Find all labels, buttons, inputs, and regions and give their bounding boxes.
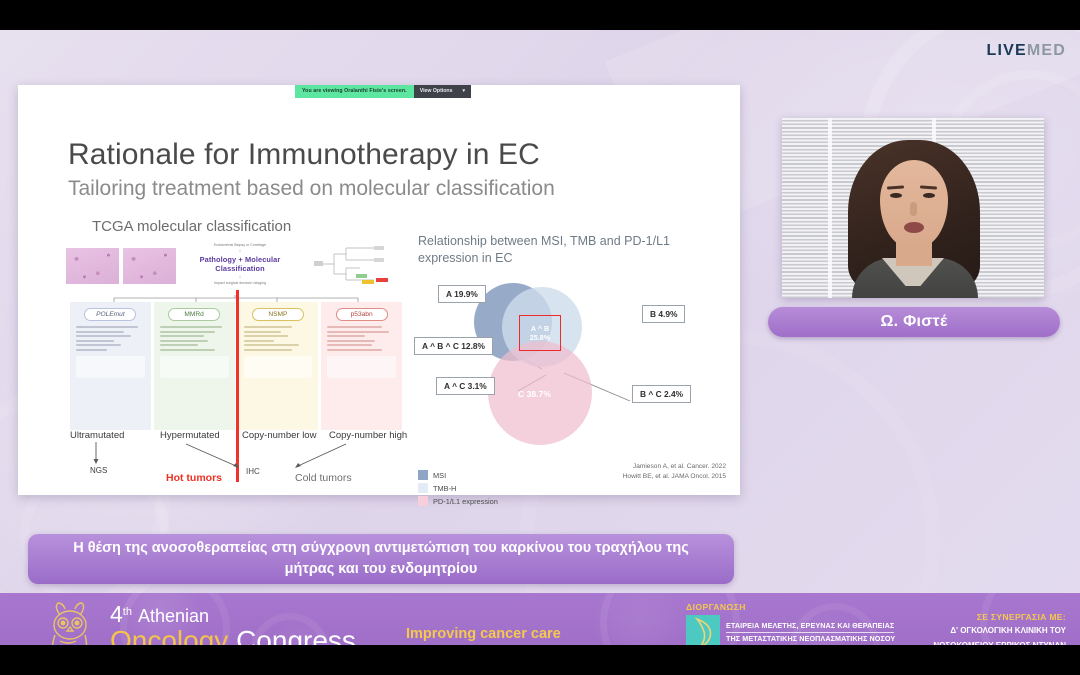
tagline-line-1: Improving cancer care <box>406 625 628 644</box>
congress-ordinal-number: 4 <box>110 601 123 627</box>
venn-label-a: A 19.9% <box>438 285 486 303</box>
speaker-name-badge: Ω. Φιστέ <box>768 307 1060 337</box>
legend-swatch-msi <box>418 470 428 480</box>
slide-subtitle: Tailoring treatment based on molecular c… <box>68 177 555 201</box>
venn-value-ab: 25.8% <box>530 333 550 342</box>
tcga-subtype-detail <box>238 326 319 351</box>
tcga-subtype-nsmp: NSMP <box>238 302 319 430</box>
webinar-player: LIVEMED You are viewing Οralanthi Fiste'… <box>0 0 1080 675</box>
tcga-subtype-label: MMRd <box>168 308 220 321</box>
congress-athenian: Athenian <box>138 606 209 626</box>
eye <box>923 193 935 198</box>
venn-heading: Relationship between MSI, TMB and PD-1/L… <box>418 233 718 267</box>
tcga-subtype-polemut: POLEmut <box>70 302 151 430</box>
tcga-label-cold-tumors: Cold tumors <box>295 472 352 484</box>
organizer-name-line-1: ΕΤΑΙΡΕΙΑ ΜΕΛΕΤΗΣ, ΕΡΕΥΝΑΣ ΚΑΙ ΘΕΡΑΠΕΙΑΣ <box>726 620 894 633</box>
venn-label-b: B 4.9% <box>642 305 685 323</box>
tcga-subtype-summary <box>244 356 313 378</box>
tcga-label-ihc: IHC <box>246 467 260 476</box>
congress-ordinal-suffix: th <box>123 606 132 618</box>
tcga-subtype-summary <box>76 356 145 378</box>
organizer-name-line-2: ΤΗΣ ΜΕΤΑΣΤΑΤΙΚΗΣ ΝΕΟΠΛΑΣΜΑΤΙΚΗΣ ΝΟΣΟΥ <box>726 633 895 644</box>
session-title-banner: Η θέση της ανοσοθεραπείας στη σύγχρονη α… <box>28 534 734 584</box>
view-options-label: View Options <box>420 85 453 98</box>
tcga-subtype-detail <box>154 326 235 351</box>
tcga-bottom-labels: Ultramutated Hypermutated Copy-number lo… <box>66 430 412 490</box>
citation-1: Jamieson A, et al. Cancer. 2022 <box>623 462 726 472</box>
venn-label-abc: A ^ B ^ C 12.8% <box>414 337 493 355</box>
tcga-flow-top: Endometrial Biopsy or Curettage ↓ Pathol… <box>180 242 300 286</box>
tcga-heading: TCGA molecular classification <box>92 218 291 235</box>
venn-label-bc: B ^ C 2.4% <box>632 385 691 403</box>
view-options-button[interactable]: View Options ▾ <box>414 85 471 98</box>
legend-label-pdl1: PD-1/L1 expression <box>433 497 498 506</box>
tcga-label-copy-number-high: Copy-number high <box>329 430 407 441</box>
cooperation-block: ΣΕ ΣΥΝΕΡΓΑΣΙΑ ΜΕ: Δ' ΟΓΚΟΛΟΓΙΚΗ ΚΛΙΝΙΚΗ … <box>933 612 1066 645</box>
legend-swatch-pdl1 <box>418 496 428 506</box>
nose <box>910 202 917 216</box>
legend-item: MSI <box>418 470 498 480</box>
histology-image <box>123 248 176 284</box>
tcga-subtype-label: p53abn <box>336 308 388 321</box>
tcga-flow-staging-label: Impact surgical decision /staging <box>180 280 300 286</box>
congress-oncology: Oncology <box>110 625 228 645</box>
organizer-body: ΕΤΑΙΡΕΙΑ ΜΕΛΕΤΗΣ, ΕΡΕΥΝΑΣ ΚΑΙ ΘΕΡΑΠΕΙΑΣ … <box>686 615 895 645</box>
tcga-subtype-label: POLEmut <box>84 308 136 321</box>
conference-banner: 4thAthenian Oncology Congress Improving … <box>0 593 1080 645</box>
letterbox-top <box>0 0 1080 30</box>
tcga-minitree-thumbnail <box>312 244 390 286</box>
legend-item: PD-1/L1 expression <box>418 496 498 506</box>
blind-post <box>828 118 832 298</box>
tcga-subtype-summary <box>327 356 396 378</box>
livemed-logo: LIVEMED <box>986 42 1066 60</box>
congress-title: 4thAthenian Oncology Congress <box>110 601 356 645</box>
tcga-label-copy-number-low: Copy-number low <box>242 430 316 441</box>
livemed-logo-med: MED <box>1027 42 1066 59</box>
citation-2: Howitt BE, et al. JAMA Oncol. 2015 <box>623 472 726 482</box>
legend-label-msi: MSI <box>433 471 446 480</box>
tcga-subtype-summary <box>160 356 229 378</box>
tcga-subtype-mmrd: MMRd <box>154 302 235 430</box>
organizer-block: ΔΙΟΡΓΑΝΩΣΗ ΕΤΑΙΡΕΙΑ ΜΕΛΕΤΗΣ, ΕΡΕΥΝΑΣ ΚΑΙ… <box>686 602 895 645</box>
letterbox-bottom <box>0 645 1080 675</box>
presentation-stage: LIVEMED You are viewing Οralanthi Fiste'… <box>0 30 1080 645</box>
legend-label-tmb: TMB-H <box>433 484 456 493</box>
owl-icon <box>42 601 102 645</box>
screen-share-message: You are viewing Οralanthi Fiste's screen… <box>295 85 414 98</box>
venn-diagram: A ^ B 25.8% C 38.7% A 19.9% B 4.9% A ^ B… <box>414 277 724 477</box>
slide-title: Rationale for Immunotherapy in EC <box>68 138 540 172</box>
speaker-video[interactable] <box>782 118 1044 298</box>
eye <box>890 193 902 198</box>
mouth <box>904 222 924 233</box>
legend-swatch-tmb <box>418 483 428 493</box>
venn-legend: MSI TMB-H PD-1/L1 expression <box>418 470 498 509</box>
histology-image <box>66 248 119 284</box>
chevron-down-icon: ▾ <box>462 85 465 98</box>
slide-citations: Jamieson A, et al. Cancer. 2022 Howitt B… <box>623 462 726 481</box>
congress-tagline: Improving cancer care by opening therape… <box>406 625 628 645</box>
shared-slide: You are viewing Οralanthi Fiste's screen… <box>18 85 740 495</box>
tcga-connector-bus <box>72 292 398 302</box>
legend-item: TMB-H <box>418 483 498 493</box>
tcga-subtype-detail <box>321 326 402 351</box>
tcga-subtype-p53abn: p53abn <box>321 302 402 430</box>
organizer-logo-icon <box>686 615 720 645</box>
congress-edition: 4thAthenian <box>110 601 356 627</box>
livemed-logo-live: LIVE <box>986 42 1026 59</box>
organizer-name: ΕΤΑΙΡΕΙΑ ΜΕΛΕΤΗΣ, ΕΡΕΥΝΑΣ ΚΑΙ ΘΕΡΑΠΕΙΑΣ … <box>726 620 895 644</box>
screen-share-banner: You are viewing Οralanthi Fiste's screen… <box>295 85 471 98</box>
tcga-label-ngs: NGS <box>90 466 107 475</box>
cooperation-heading: ΣΕ ΣΥΝΕΡΓΑΣΙΑ ΜΕ: <box>933 612 1066 622</box>
venn-highlight-ab: A ^ B 25.8% <box>519 315 561 351</box>
tcga-flow-classification-label: Pathology + Molecular Classification <box>180 255 300 273</box>
tcga-label-hypermutated: Hypermutated <box>160 430 220 441</box>
tcga-subtype-detail <box>70 326 151 351</box>
venn-label-ac: A ^ C 3.1% <box>436 377 495 395</box>
venn-label-ab: A ^ B <box>531 324 549 333</box>
tcga-label-ultramutated: Ultramutated <box>70 430 124 441</box>
cooperation-line-1: Δ' ΟΓΚΟΛΟΓΙΚΗ ΚΛΙΝΙΚΗ ΤΟΥ <box>933 625 1066 637</box>
congress-name: Oncology Congress <box>110 625 356 645</box>
organizer-heading: ΔΙΟΡΓΑΝΩΣΗ <box>686 602 895 612</box>
congress-congress: Congress <box>236 625 356 645</box>
speaker-figure <box>848 140 980 298</box>
tcga-subtype-label: NSMP <box>252 308 304 321</box>
arrow-down-icon: ↓ <box>180 248 300 254</box>
tcga-label-hot-tumors: Hot tumors <box>166 472 222 484</box>
venn-label-c: C 38.7% <box>518 389 551 399</box>
